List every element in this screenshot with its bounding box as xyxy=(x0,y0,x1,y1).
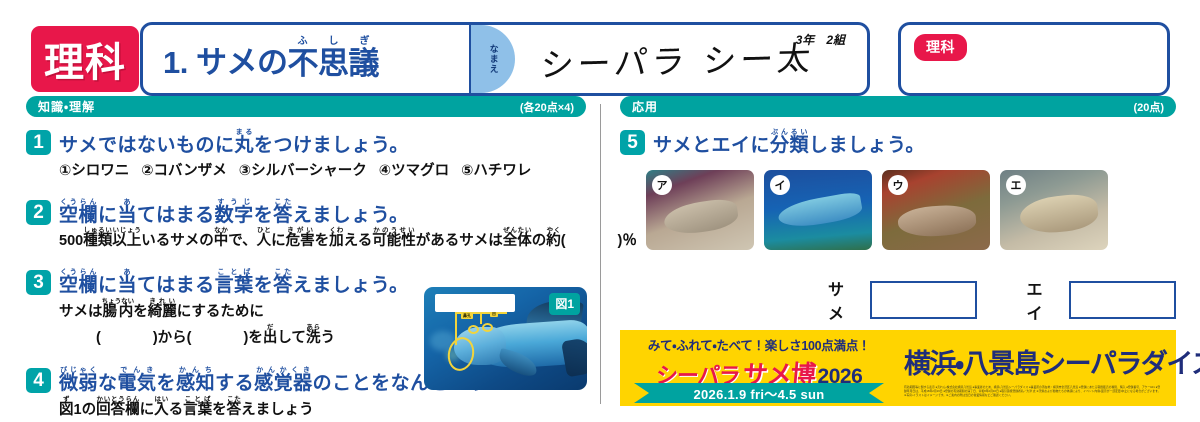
figure-1: 鼻孔 目 図1 xyxy=(424,287,587,390)
annotation-leader-vertical xyxy=(455,312,457,345)
answer-label-shark: サメ xyxy=(828,276,856,324)
banner-dates: 2026.1.9 fri〜4.5 sun xyxy=(634,383,884,403)
section-bar-knowledge: 知識・理解 (各20点×4) xyxy=(26,96,586,117)
question-3-number: 3 xyxy=(26,270,51,295)
banner-event-block: みて・ふれて・たべて！楽しさ100点満点！ シーパラ サメ博 2026 2026… xyxy=(620,330,898,406)
banner-park-block: 横浜・八景島シーパラダイス 有効期限等に関する表示 ●売れん・株式会社横浜八景島… xyxy=(898,330,1200,406)
grade-class: 3年2組 xyxy=(784,31,845,48)
question-2: 2 空欄くうらんに当あてはまる数字すうじを答こたえましょう。 500種類しゅるい… xyxy=(26,199,586,254)
question-1-number: 1 xyxy=(26,130,51,155)
figure-badge: 図1 xyxy=(549,293,580,315)
photo-option-e[interactable]: エ xyxy=(1000,170,1108,250)
question-5: 5 サメとエイに分類ぶんるいしましょう。 xyxy=(620,129,1176,158)
question-3-title: 空欄くうらんに当あてはまる言葉ことばを答こたえましょう。 xyxy=(59,269,409,298)
photo-badge-e: エ xyxy=(1006,175,1026,195)
photo-badge-u: ウ xyxy=(888,175,908,195)
nostril-annotation-circle xyxy=(468,325,479,334)
option-5[interactable]: ⑤ハチワレ xyxy=(461,163,531,179)
column-divider xyxy=(600,104,601,404)
banner-park-name: 横浜・八景島シーパラダイス xyxy=(904,342,1200,381)
section-bar-application: 応用 (20点) xyxy=(620,96,1176,117)
page-title: 1. サメの不思議ふしぎ xyxy=(143,25,469,93)
question-2-body: 500種類しゅるい以上いじょういるサメの中なかで、人ひとに危害きがいを加くわえる… xyxy=(59,227,586,253)
section-bar-label: 知識・理解 xyxy=(38,98,95,115)
section-bar-label: 応用 xyxy=(632,98,658,115)
question-5-title: サメとエイに分類ぶんるいしましょう。 xyxy=(653,129,925,158)
event-banner[interactable]: みて・ふれて・たべて！楽しさ100点満点！ シーパラ サメ博 2026 2026… xyxy=(620,330,1176,406)
option-1[interactable]: ①シロワニ xyxy=(59,163,129,179)
question-1: 1 サメではないものに丸まるをつけましょう。 ①シロワニ②コバンザメ③シルバーシ… xyxy=(26,129,586,183)
question-4-body: 図ず1の回答欄かいとうらんに入はいる言葉ことばを答こたえましょう xyxy=(59,396,586,422)
banner-fineprint: 有効期限等に関する表示 ●売れん・株式会社横浜八景島 ●事業者のため、横浜・八景… xyxy=(904,385,1162,397)
title-kanji: 不思議ふしぎ xyxy=(287,36,379,83)
student-name-value: シーパラ シー太 xyxy=(539,31,817,86)
title-box: 1. サメの不思議ふしぎ なまえ シーパラ シー太 3年2組 xyxy=(140,22,870,96)
grade-value: 3年 xyxy=(796,33,815,47)
question-4-number: 4 xyxy=(26,368,51,393)
question-1-options: ①シロワニ②コバンザメ③シルバーシャーク④ツマグロ⑤ハチワレ xyxy=(59,161,586,183)
title-main-text: 1. サメの xyxy=(163,37,287,82)
worksheet-header: 理科 1. サメの不思議ふしぎ なまえ シーパラ シー太 3年2組 理科 xyxy=(0,0,1200,96)
question-5-head: 5 サメとエイに分類ぶんるいしましょう。 xyxy=(620,129,1176,158)
section-bar-points: (20点) xyxy=(1133,99,1164,115)
banner-tagline: みて・ふれて・たべて！楽しさ100点満点！ xyxy=(648,335,870,354)
option-4[interactable]: ④ツマグロ xyxy=(379,163,449,179)
option-3[interactable]: ③シルバーシャーク xyxy=(239,163,367,179)
answer-row: サメ エイ xyxy=(828,276,1176,324)
name-field[interactable]: シーパラ シー太 3年2組 xyxy=(515,25,867,93)
answer-field-ray[interactable] xyxy=(1069,281,1176,319)
eye-annotation-circle xyxy=(482,323,493,332)
question-1-head: 1 サメではないものに丸まるをつけましょう。 xyxy=(26,129,586,158)
answer-field-shark[interactable] xyxy=(870,281,977,319)
photo-option-i[interactable]: イ xyxy=(764,170,872,250)
score-box-badge: 理科 xyxy=(914,34,967,61)
name-tab: なまえ xyxy=(469,25,515,93)
answer-label-ray: エイ xyxy=(1027,276,1055,324)
subject-badge: 理科 xyxy=(31,26,139,92)
name-tab-label: なまえ xyxy=(487,44,498,74)
question-5-number: 5 xyxy=(620,130,645,155)
photo-badge-i: イ xyxy=(770,175,790,195)
figure-answer-box[interactable] xyxy=(435,294,515,312)
question-2-title: 空欄くうらんに当あてはまる数字すうじを答こたえましょう。 xyxy=(59,199,409,228)
photo-option-u[interactable]: ウ xyxy=(882,170,990,250)
annotation-leader-branch xyxy=(480,312,482,324)
photo-option-a[interactable]: ア xyxy=(646,170,754,250)
section-bar-points: (各20点×4) xyxy=(520,99,574,115)
shark-tail xyxy=(561,337,587,378)
question-1-title: サメではないものに丸まるをつけましょう。 xyxy=(59,129,409,158)
class-value: 2組 xyxy=(826,33,845,47)
question-2-number: 2 xyxy=(26,200,51,225)
score-box[interactable]: 理科 xyxy=(898,22,1170,96)
question-2-head: 2 空欄くうらんに当あてはまる数字すうじを答こたえましょう。 xyxy=(26,199,586,228)
nostril-label: 鼻孔 xyxy=(461,313,473,319)
option-2[interactable]: ②コバンザメ xyxy=(141,163,227,179)
right-column: 応用 (20点) 5 サメとエイに分類ぶんるいしましょう。 ア イ ウ エ xyxy=(620,96,1176,324)
photo-badge-a: ア xyxy=(652,175,672,195)
photo-row: ア イ ウ エ xyxy=(646,170,1176,250)
